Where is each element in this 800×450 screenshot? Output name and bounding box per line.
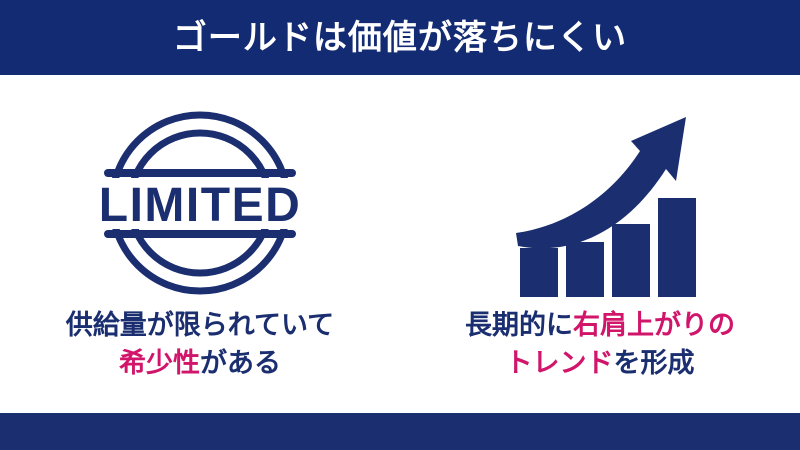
caption-segment-highlight: 右肩上がりの: [573, 310, 735, 341]
content-area: LIMITED 供給量が限られていて 希少性がある: [0, 75, 800, 413]
growth-chart-icon: [500, 105, 700, 300]
bar-2: [566, 242, 604, 297]
caption-line-2: トレンドを形成: [400, 345, 800, 383]
limited-badge-wordmark: LIMITED: [100, 179, 300, 232]
caption-segment-plain: を形成: [614, 348, 695, 379]
caption-segment-highlight: トレンド: [506, 348, 614, 379]
slide-root: ゴールドは価値が落ちにくい LIMITE: [0, 0, 800, 450]
page-title: ゴールドは価値が落ちにくい: [173, 21, 627, 55]
header-bar: ゴールドは価値が落ちにくい: [0, 0, 800, 75]
bar-1: [520, 248, 558, 297]
caption-segment-plain: 長期的に: [465, 310, 573, 341]
caption-line-1: 供給量が限られていて: [0, 307, 400, 345]
footer-bar: [0, 413, 800, 450]
caption-supply-scarcity: 供給量が限られていて 希少性がある: [0, 307, 400, 384]
caption-line-1: 長期的に右肩上がりの: [400, 307, 800, 345]
caption-segment-plain: 供給量が限られていて: [66, 310, 334, 341]
bar-3: [612, 224, 650, 297]
bar-4: [658, 198, 696, 297]
caption-line-2: 希少性がある: [0, 345, 400, 383]
column-uptrend: 長期的に右肩上がりの トレンドを形成: [400, 75, 800, 413]
column-supply-scarcity: LIMITED 供給量が限られていて 希少性がある: [0, 75, 400, 413]
caption-segment-highlight: 希少性: [119, 348, 200, 379]
growth-chart-icon-wrap: [400, 105, 800, 300]
caption-segment-plain: がある: [200, 348, 281, 379]
caption-uptrend: 長期的に右肩上がりの トレンドを形成: [400, 307, 800, 384]
limited-badge-icon-wrap: LIMITED: [0, 105, 400, 300]
limited-badge-icon: LIMITED: [100, 108, 300, 298]
